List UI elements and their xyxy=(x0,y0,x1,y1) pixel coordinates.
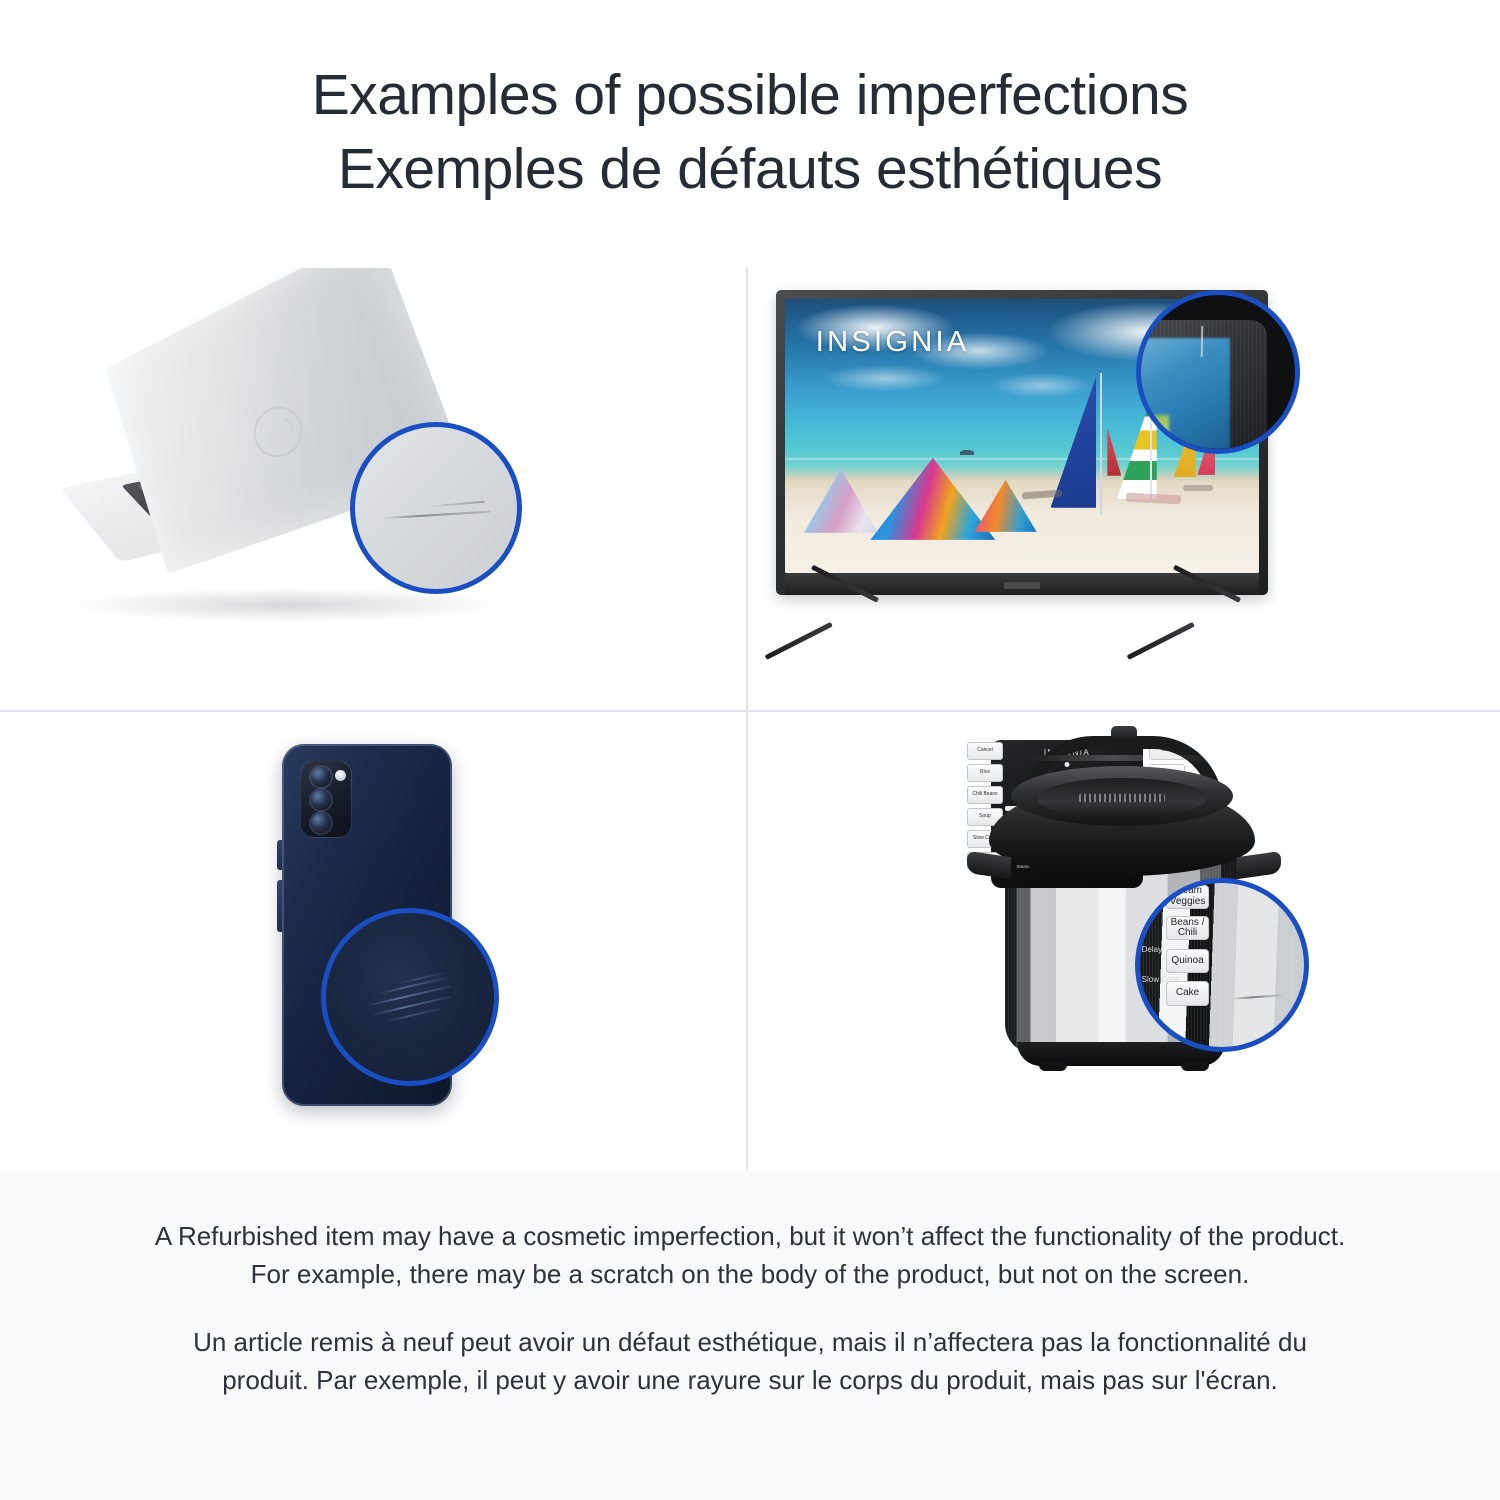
camera-lens-icon xyxy=(311,767,331,787)
footer-paragraph-french: Un article remis à neuf peut avoir un dé… xyxy=(152,1324,1348,1400)
sail-mast xyxy=(1100,373,1102,515)
cooker-side-handle xyxy=(1237,851,1281,879)
phone-power-button xyxy=(277,880,282,932)
pressure-cooker-illustration: INSIGNIA 8:00 − Pressure Cook + Manual xyxy=(959,726,1289,1098)
scratch-mark xyxy=(377,977,446,995)
scratch-mark xyxy=(400,972,443,984)
scratch-mark xyxy=(370,996,449,1016)
cooker-label-slow-cook-zoom: Slow Cook xyxy=(1142,975,1180,984)
magnifier-tv-scratch xyxy=(1136,290,1300,454)
camera-lens-icon xyxy=(311,790,331,810)
beach-object xyxy=(1183,485,1213,491)
cooker-button-cake-zoom: Cake xyxy=(1166,981,1209,1006)
example-cell-tv: INSIGNIA xyxy=(748,268,1500,712)
footer-paragraph-english: A Refurbished item may have a cosmetic i… xyxy=(152,1218,1348,1294)
magnifier-phone-surface xyxy=(326,913,494,1081)
phone-camera-module xyxy=(300,760,352,838)
scratch-mark xyxy=(430,501,485,507)
magnifier-cooker-scratch: Steam Veggies Beans / Chili Quinoa Cake … xyxy=(1135,878,1309,1052)
scratch-mark xyxy=(381,511,489,520)
product-examples-grid: INSIGNIA xyxy=(0,268,1500,1170)
cloud-shape xyxy=(989,373,1093,398)
cooker-pressure-valve-knob xyxy=(1111,726,1137,740)
page-header: Examples of possible imperfections Exemp… xyxy=(0,0,1500,268)
page-title-english: Examples of possible imperfections xyxy=(0,58,1500,132)
cooker-button-beans-chili-zoom: Beans / Chili xyxy=(1166,916,1209,941)
laptop-illustration xyxy=(60,338,620,668)
cooker-label-delay-zoom: Delay xyxy=(1142,945,1162,954)
example-cell-laptop xyxy=(0,268,748,712)
scratch-mark xyxy=(385,1007,441,1022)
example-cell-pressure-cooker: INSIGNIA 8:00 − Pressure Cook + Manual xyxy=(748,712,1500,1170)
magnifier-cooker-surface: Steam Veggies Beans / Chili Quinoa Cake … xyxy=(1140,883,1304,1047)
distant-boat xyxy=(960,450,974,455)
tv-illustration: INSIGNIA xyxy=(776,290,1316,662)
cooker-lid-label xyxy=(1079,794,1165,802)
cloud-shape xyxy=(823,365,946,392)
magnifier-laptop-surface xyxy=(355,427,517,589)
red-sail xyxy=(1107,428,1121,476)
magnifier-laptop-scratch xyxy=(350,422,522,594)
magnifier-tv-surface xyxy=(1141,295,1295,449)
phone-illustration xyxy=(268,744,478,1112)
phone-volume-button xyxy=(277,840,282,870)
cooker-foot xyxy=(1039,1062,1067,1071)
page-title-french: Exemples de défauts esthétiques xyxy=(0,132,1500,206)
imperfections-infographic: Examples of possible imperfections Exemp… xyxy=(0,0,1500,1500)
cooker-foot xyxy=(1181,1062,1209,1071)
cooker-button-chili-beans[interactable]: Chili Beans xyxy=(967,786,1003,804)
cooker-lid-inner xyxy=(1037,778,1207,818)
tv-brand-logo: INSIGNIA xyxy=(816,326,970,359)
scratch-mark xyxy=(1232,994,1281,999)
camera-flash-icon xyxy=(335,770,346,781)
cooker-button-cancel[interactable]: Cancel xyxy=(967,742,1003,760)
tv-stand-leg xyxy=(1127,622,1195,660)
tv-badge xyxy=(1004,582,1040,589)
page-footer: A Refurbished item may have a cosmetic i… xyxy=(0,1170,1500,1500)
laptop-brand-logo-icon xyxy=(246,397,311,467)
tv-screen-content-zoom xyxy=(1136,415,1169,452)
camera-lens-icon xyxy=(311,813,331,833)
magnifier-phone-scuff xyxy=(321,908,499,1086)
example-cell-phone xyxy=(0,712,748,1170)
scratch-mark xyxy=(365,986,451,1008)
cooker-button-rice[interactable]: Rice xyxy=(967,764,1003,782)
cooker-button-quinoa-zoom: Quinoa xyxy=(1166,949,1209,974)
cooker-button-steam-veggies-zoom: Steam Veggies xyxy=(1166,885,1209,910)
tv-stand-leg xyxy=(765,622,833,660)
